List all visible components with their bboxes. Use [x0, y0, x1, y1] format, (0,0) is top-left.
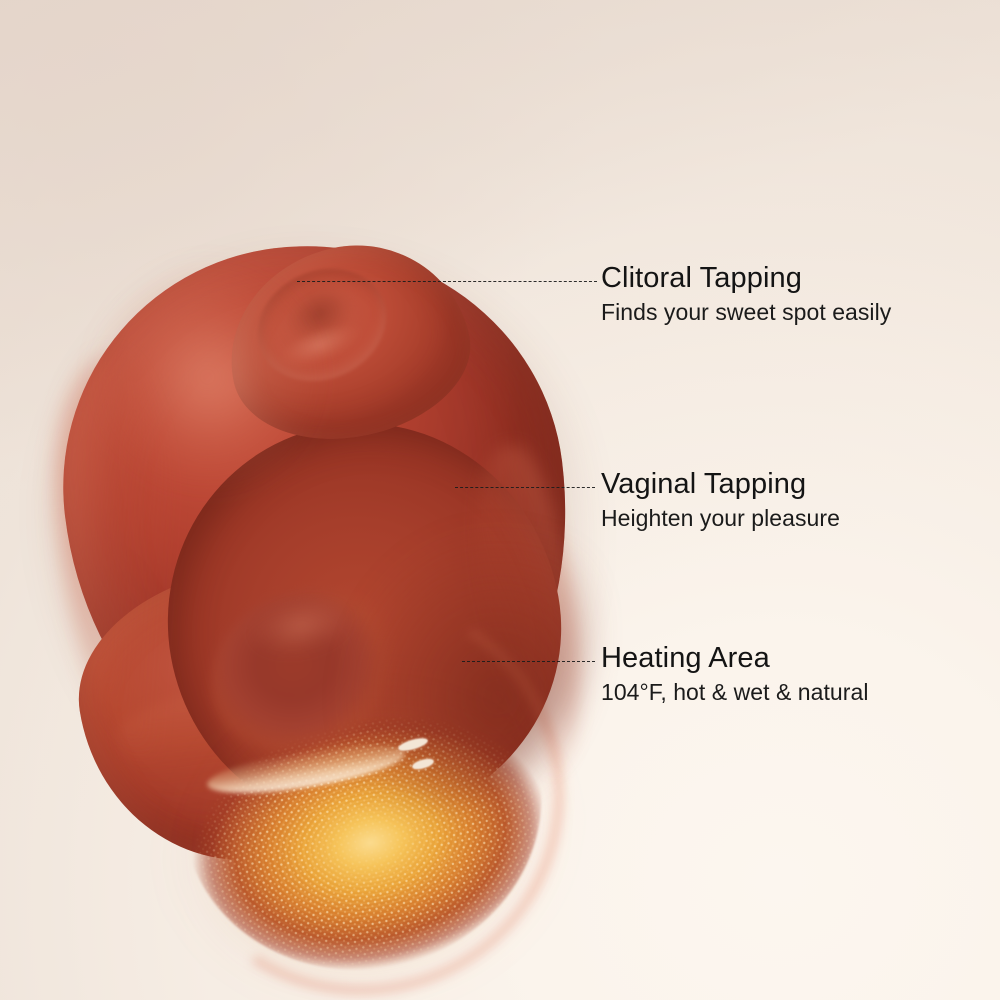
callout-subtitle: Finds your sweet spot easily — [601, 298, 891, 327]
callout-title: Vaginal Tapping — [601, 467, 840, 501]
callout-heating-area: Heating Area 104°F, hot & wet & natural — [601, 641, 868, 707]
callout-title: Heating Area — [601, 641, 868, 675]
leader-line-vaginal-tapping — [455, 487, 595, 488]
product-image — [60, 235, 580, 815]
leader-line-clitoral-tapping — [297, 281, 597, 282]
leader-line-heating-area — [462, 661, 595, 662]
callout-subtitle: 104°F, hot & wet & natural — [601, 678, 868, 707]
callout-title: Clitoral Tapping — [601, 261, 891, 295]
callout-clitoral-tapping: Clitoral Tapping Finds your sweet spot e… — [601, 261, 891, 327]
callout-subtitle: Heighten your pleasure — [601, 504, 840, 533]
infographic-canvas: Clitoral Tapping Finds your sweet spot e… — [0, 0, 1000, 1000]
callout-vaginal-tapping: Vaginal Tapping Heighten your pleasure — [601, 467, 840, 533]
